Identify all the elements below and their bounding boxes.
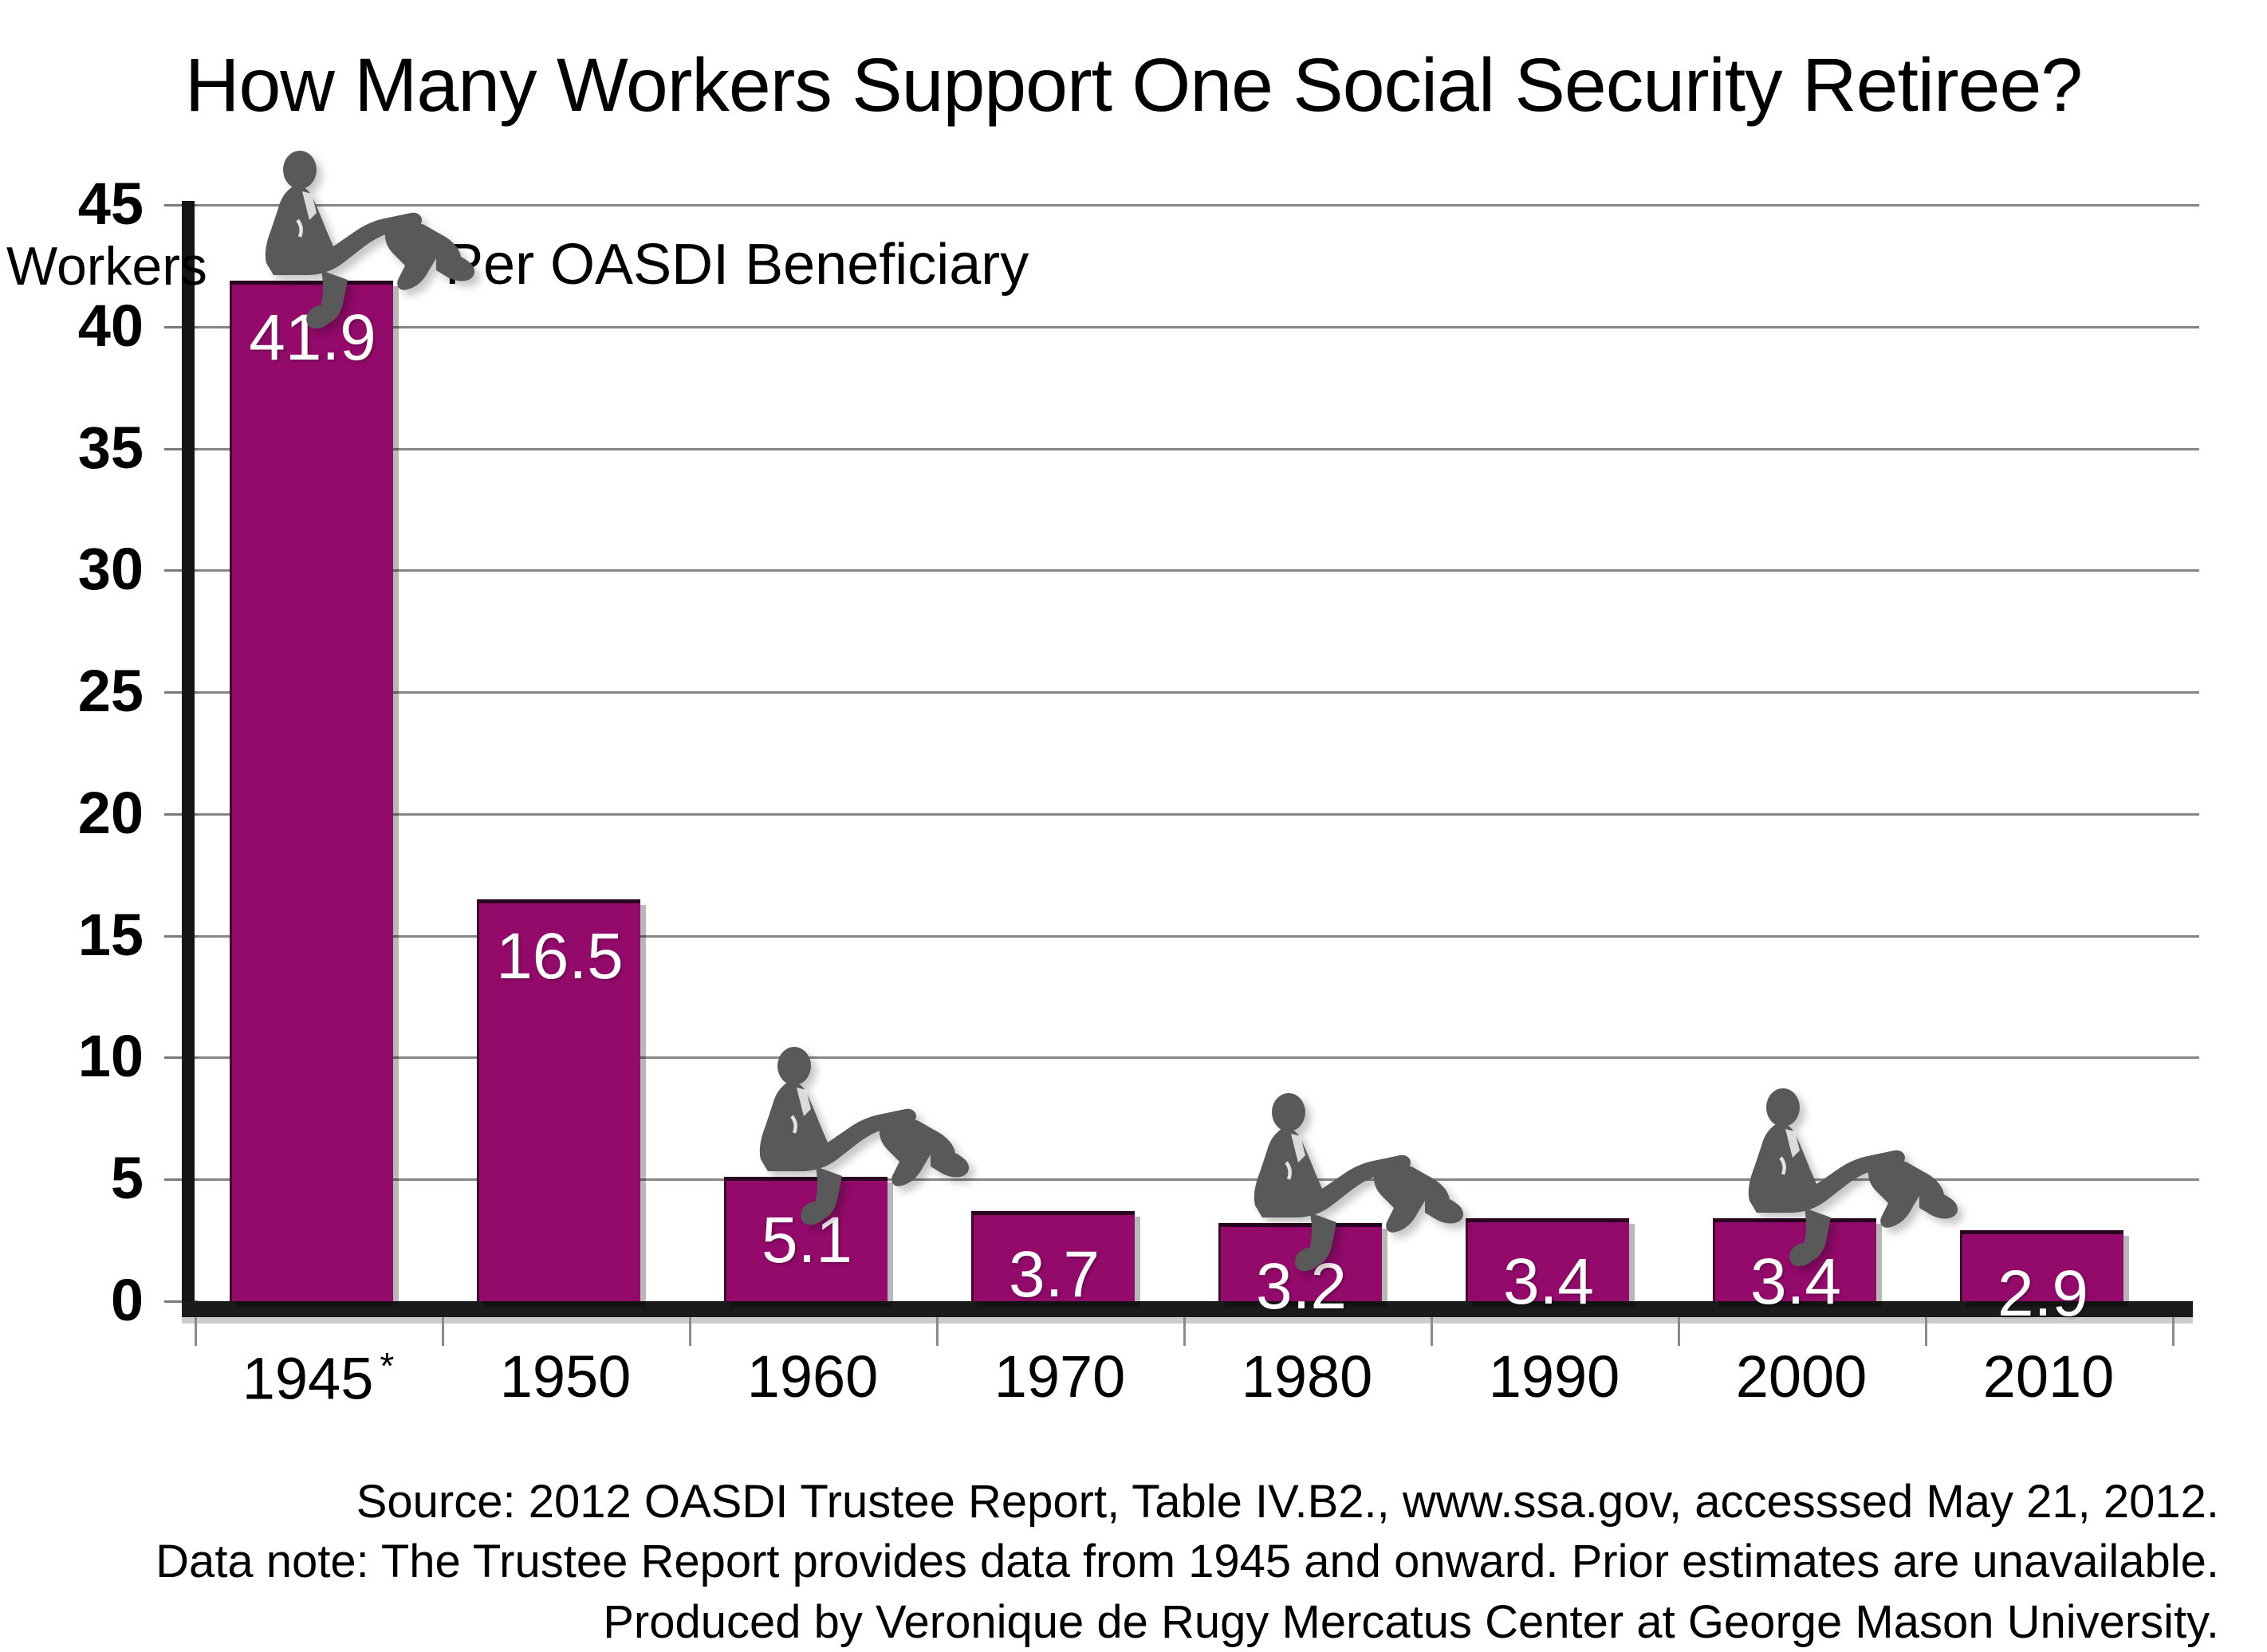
chart-annotation-per-oasdi-beneficiary: Per OASDI Beneficiary: [445, 236, 1029, 293]
x-axis-tick-mark: [1183, 1317, 1186, 1346]
chart-plot-area: 051015202530354045 Workers Per OASDI Ben…: [0, 0, 2267, 1645]
footer-source-line: Source: 2012 OASDI Trustee Report, Table…: [0, 1472, 2219, 1532]
x-axis-tick-label: 1960: [689, 1347, 936, 1406]
x-axis-tick-label: 1980: [1183, 1347, 1431, 1406]
y-axis-tick-label: 0: [48, 1271, 144, 1330]
bar-1945[interactable]: 41.9: [230, 281, 393, 1301]
y-axis-tick-label: 25: [48, 662, 144, 721]
x-axis-line: [182, 1301, 2193, 1317]
y-axis-tick-label: 20: [48, 784, 144, 843]
seated-worker-silhouette-icon: [1238, 1093, 1478, 1272]
y-axis-tick-label: 15: [48, 906, 144, 965]
bar-2010[interactable]: 2.9: [1960, 1230, 2123, 1301]
y-axis-tick-label: 30: [48, 540, 144, 599]
bar-value-label: 2.9: [1997, 1261, 2088, 1327]
gridline: [164, 813, 2199, 816]
x-axis-tick-label: 2000: [1678, 1347, 1925, 1406]
y-axis-tick-label: 35: [48, 419, 144, 478]
x-axis-tick-mark: [1925, 1317, 1927, 1346]
x-axis-tick-mark: [442, 1317, 444, 1346]
bar-1950[interactable]: 16.5: [477, 899, 640, 1301]
x-axis-tick-label: 1945*: [195, 1347, 442, 1409]
x-axis-tick-label: 1990: [1431, 1347, 1678, 1406]
x-axis-tick-mark: [195, 1317, 197, 1346]
bar-value-label: 3.4: [1503, 1249, 1594, 1315]
y-axis-tick-label: 10: [48, 1027, 144, 1086]
x-axis-tick-label: 1950: [442, 1347, 689, 1406]
footer-notes: Source: 2012 OASDI Trustee Report, Table…: [0, 1472, 2219, 1652]
bar-1970[interactable]: 3.7: [971, 1211, 1135, 1301]
x-axis-tick-mark: [2172, 1317, 2175, 1346]
x-axis-tick-mark: [936, 1317, 939, 1346]
x-axis-tick-label: 2010: [1925, 1347, 2172, 1406]
y-axis-line: [182, 201, 195, 1306]
bar-value-label: 16.5: [496, 924, 624, 989]
gridline: [164, 1056, 2199, 1059]
gridline: [164, 448, 2199, 450]
seated-worker-silhouette-icon: [1733, 1088, 1972, 1268]
y-axis-tick-label: 45: [48, 175, 144, 234]
bar-1990[interactable]: 3.4: [1466, 1218, 1629, 1301]
gridline: [164, 935, 2199, 938]
x-axis-tick-mark: [1678, 1317, 1680, 1346]
x-axis-tick-mark: [1431, 1317, 1433, 1346]
footer-produced-by-line: Produced by Veronique de Rugy Mercatus C…: [0, 1592, 2219, 1652]
seated-worker-silhouette-icon: [744, 1047, 983, 1226]
gridline: [164, 691, 2199, 694]
footer-data-note-line: Data note: The Trustee Report provides d…: [0, 1532, 2219, 1591]
x-axis-tick-label: 1970: [936, 1347, 1183, 1406]
seated-worker-silhouette-icon: [250, 151, 489, 330]
bar-value-label: 3.7: [1009, 1242, 1100, 1308]
y-axis-tick-label: 40: [48, 297, 144, 356]
x-axis-tick-mark: [689, 1317, 691, 1346]
y-axis-title: Workers: [6, 239, 207, 293]
y-axis-tick-label: 5: [48, 1149, 144, 1208]
gridline: [164, 569, 2199, 572]
